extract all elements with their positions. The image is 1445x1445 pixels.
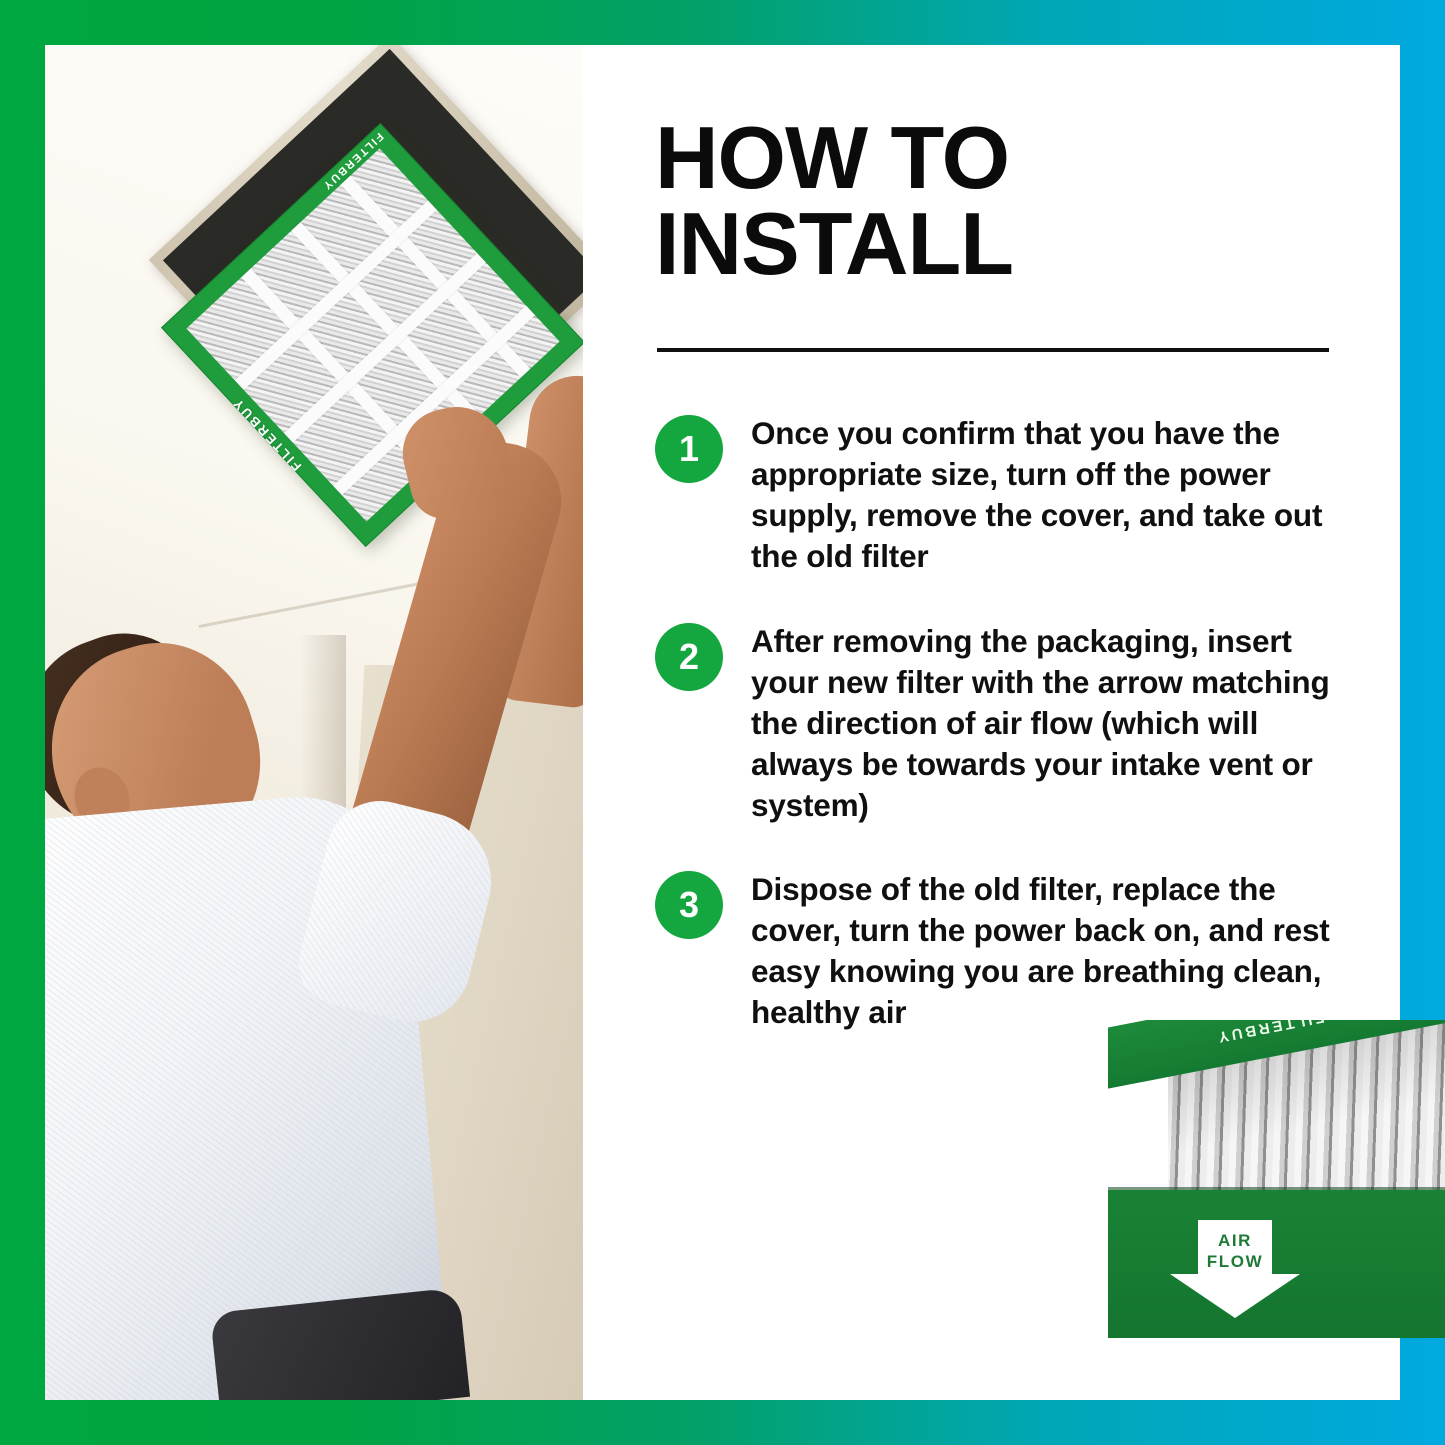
steps-list: 1 Once you confirm that you have the app…	[655, 413, 1355, 1077]
page-title-line-1: HOW TO	[655, 115, 1355, 201]
step-number-badge: 2	[655, 623, 723, 691]
product-base-background	[1108, 1338, 1388, 1400]
step-item: 2 After removing the packaging, insert y…	[655, 621, 1355, 826]
product-filter-image: FILTERBUY AIR FLOW	[1108, 1020, 1445, 1400]
poster-root: FILTERBUY FILTERBUY HOW TO INSTALL 1	[0, 0, 1445, 1445]
step-text: Once you confirm that you have the appro…	[751, 413, 1351, 577]
airflow-label-line-1: AIR	[1218, 1231, 1252, 1250]
step-item: 3 Dispose of the old filter, replace the…	[655, 869, 1355, 1033]
page-title: HOW TO INSTALL	[655, 115, 1355, 287]
airflow-label-line-2: FLOW	[1207, 1252, 1263, 1271]
title-divider	[657, 348, 1329, 352]
installation-photo: FILTERBUY FILTERBUY	[45, 45, 583, 1400]
step-item: 1 Once you confirm that you have the app…	[655, 413, 1355, 577]
step-number-badge: 3	[655, 871, 723, 939]
step-text: After removing the packaging, insert you…	[751, 621, 1351, 826]
step-text: Dispose of the old filter, replace the c…	[751, 869, 1351, 1033]
step-number-badge: 1	[655, 415, 723, 483]
airflow-arrow-icon: AIR FLOW	[1170, 1220, 1300, 1316]
page-title-line-2: INSTALL	[655, 201, 1355, 287]
airflow-label: AIR FLOW	[1170, 1230, 1300, 1273]
product-brand-label: FILTERBUY	[1214, 1020, 1325, 1046]
airflow-arrow-head	[1170, 1274, 1300, 1318]
